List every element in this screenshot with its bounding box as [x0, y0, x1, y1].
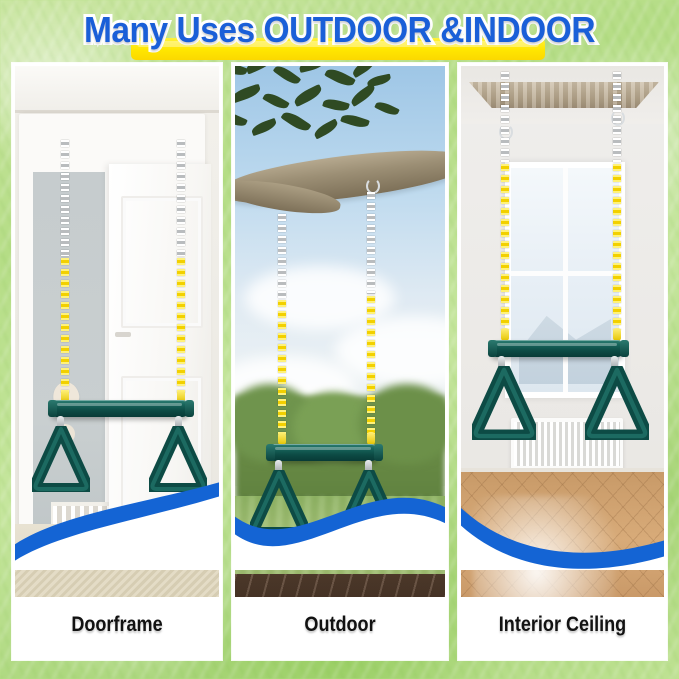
photo-interior-ceiling: [461, 66, 664, 606]
photo-doorframe: [15, 66, 219, 606]
bar-end-cap: [374, 444, 383, 461]
bar-end-cap: [488, 340, 497, 357]
chain-yellow-segment: [501, 162, 509, 330]
chain-left: [61, 138, 69, 393]
window-mullion-vertical: [563, 168, 568, 392]
trapeze-bar: [269, 444, 377, 461]
chain-yellow-segment: [177, 256, 185, 393]
chain-silver-segment: [613, 70, 621, 162]
trim-line: [15, 110, 219, 113]
window: [505, 162, 625, 398]
blue-wave-divider: [235, 480, 445, 570]
chain-silver-segment: [501, 70, 509, 162]
caption-outdoor: Outdoor: [250, 613, 431, 637]
chain-right: [613, 70, 621, 330]
window-mullion-horizontal: [511, 271, 619, 276]
trapeze-bar: [491, 340, 623, 357]
chain-silver-segment: [61, 138, 69, 256]
chain-yellow-segment: [613, 162, 621, 330]
door-handle-icon: [115, 332, 131, 337]
product-infographic: Many Uses OUTDOOR &INDOOR: [0, 0, 679, 679]
triangle-ring-right: [585, 366, 649, 440]
trapeze-bar: [51, 400, 188, 417]
caption-doorframe: Doorframe: [29, 613, 204, 637]
photo-outdoor: [235, 66, 445, 606]
panel-interior-ceiling[interactable]: Interior Ceiling: [458, 63, 667, 660]
door-panel-upper: [121, 196, 203, 328]
chain-silver-segment: [177, 138, 185, 256]
panel-doorframe[interactable]: Doorframe: [12, 63, 222, 660]
caption-interior-ceiling: Interior Ceiling: [475, 613, 650, 637]
page-title: Many Uses OUTDOOR &INDOOR: [24, 8, 655, 52]
blue-wave-divider: [15, 480, 219, 570]
door-header-wall: [15, 66, 219, 112]
chain-yellow-segment: [61, 256, 69, 393]
ceiling-cornice-texture: [469, 82, 659, 108]
chain-silver-segment: [278, 212, 286, 298]
triangle-ring-left: [472, 366, 536, 440]
chain-yellow-segment: [278, 298, 286, 434]
chain-yellow-segment: [367, 294, 375, 434]
blue-wave-divider: [461, 480, 664, 570]
bar-end-cap: [266, 444, 275, 461]
chain-left: [501, 70, 509, 330]
chain-left: [278, 212, 286, 434]
chain-right: [367, 190, 375, 434]
bar-end-cap: [185, 400, 194, 417]
chain-right: [177, 138, 185, 393]
bar-end-cap: [620, 340, 629, 357]
bar-end-cap: [48, 400, 57, 417]
header: Many Uses OUTDOOR &INDOOR: [0, 0, 679, 62]
panel-outdoor[interactable]: Outdoor: [232, 63, 448, 660]
chain-silver-segment: [367, 190, 375, 294]
